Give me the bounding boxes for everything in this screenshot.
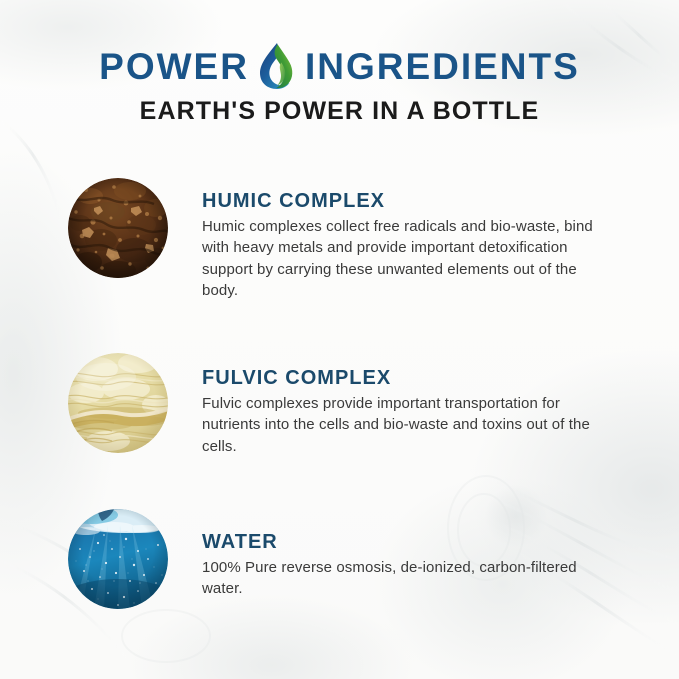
water-description: 100% Pure reverse osmosis, de-ionized, c… [202, 557, 606, 600]
humic-title: HUMIC COMPLEX [202, 190, 606, 212]
page-title: POWER [0, 43, 679, 89]
ingredient-row-fulvic: FULVIC COMPLEX Fulvic complexes provide … [0, 353, 679, 457]
fulvic-title: FULVIC COMPLEX [202, 367, 606, 389]
humic-soil-texture [68, 178, 168, 278]
water-underwater-texture [68, 509, 168, 609]
humic-text-block: HUMIC COMPLEX Humic complexes collect fr… [168, 178, 606, 301]
header: POWER [0, 0, 679, 124]
ingredient-list: HUMIC COMPLEX Humic complexes collect fr… [0, 178, 679, 609]
ingredient-row-water: WATER 100% Pure reverse osmosis, de-ioni… [0, 509, 679, 609]
title-word-power: POWER [99, 48, 249, 85]
water-underwater-image [68, 509, 168, 609]
fulvic-liquid-image [68, 353, 168, 453]
humic-description: Humic complexes collect free radicals an… [202, 216, 606, 301]
ingredient-row-humic: HUMIC COMPLEX Humic complexes collect fr… [0, 178, 679, 301]
fulvic-description: Fulvic complexes provide important trans… [202, 393, 606, 457]
title-word-ingredients: INGREDIENTS [305, 48, 580, 85]
water-text-block: WATER 100% Pure reverse osmosis, de-ioni… [168, 509, 606, 600]
page-subtitle: EARTH'S POWER IN A BOTTLE [0, 99, 679, 124]
water-drop-leaf-icon [257, 42, 297, 90]
humic-soil-image [68, 178, 168, 278]
fulvic-text-block: FULVIC COMPLEX Fulvic complexes provide … [168, 353, 606, 457]
infographic-page: POWER [0, 0, 679, 679]
fulvic-liquid-texture [68, 353, 168, 453]
water-title: WATER [202, 531, 606, 553]
